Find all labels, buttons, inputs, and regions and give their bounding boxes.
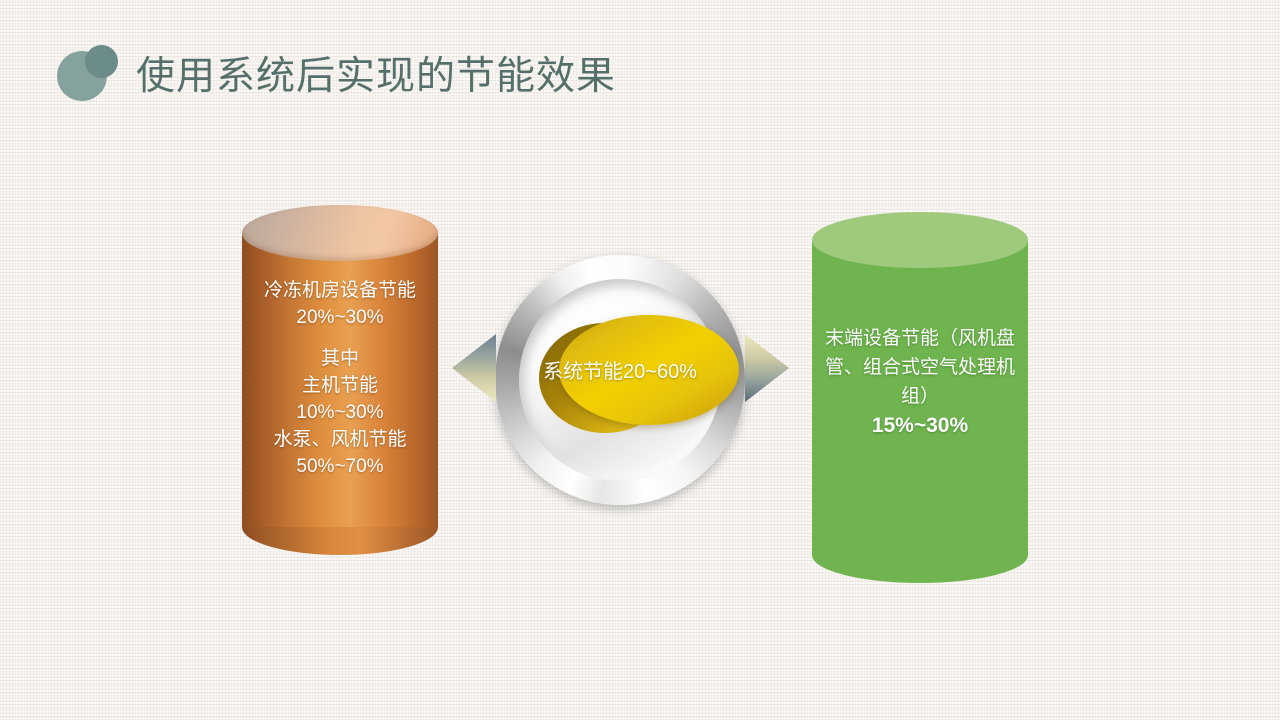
chiller-item-value-1: 50%~70% xyxy=(242,453,438,480)
arrow-right-icon xyxy=(745,334,789,402)
chiller-item-label-0: 主机节能 xyxy=(242,372,438,399)
chiller-plant-heading-block: 冷冻机房设备节能 20%~30% xyxy=(242,277,438,331)
terminal-equipment-value: 15%~30% xyxy=(824,411,1016,440)
chiller-plant-sub-label: 其中 xyxy=(242,345,438,372)
cylinder-cap xyxy=(242,205,438,261)
arrow-left-icon xyxy=(452,334,496,402)
logo-small-circle xyxy=(85,45,118,78)
cylinder-cap xyxy=(812,212,1028,268)
terminal-equipment-label: 末端设备节能（风机盘管、组合式空气处理机组） xyxy=(824,324,1016,411)
chiller-item-value-0: 10%~30% xyxy=(242,399,438,426)
chiller-plant-heading-value: 20%~30% xyxy=(242,304,438,331)
page-title: 使用系统后实现的节能效果 xyxy=(136,52,616,102)
slide-canvas: 使用系统后实现的节能效果 冷冻机房设备节能 20%~30% 其中 主机节能 10… xyxy=(0,0,1280,720)
chiller-plant-heading: 冷冻机房设备节能 xyxy=(242,277,438,304)
chiller-plant-detail-block: 其中 主机节能 10%~30% 水泵、风机节能 50%~70% xyxy=(242,345,438,480)
decorative-circles-logo xyxy=(57,45,119,101)
terminal-equipment-text-block: 末端设备节能（风机盘管、组合式空气处理机组） 15%~30% xyxy=(812,324,1028,440)
system-savings-label: 系统节能20~60% xyxy=(495,355,745,384)
chiller-item-label-1: 水泵、风机节能 xyxy=(242,426,438,453)
system-savings-hub: 系统节能20~60% xyxy=(495,255,745,505)
terminal-equipment-savings-cylinder: 末端设备节能（风机盘管、组合式空气处理机组） 15%~30% xyxy=(812,212,1028,583)
chiller-plant-savings-cylinder: 冷冻机房设备节能 20%~30% 其中 主机节能 10%~30% 水泵、风机节能… xyxy=(242,205,438,555)
